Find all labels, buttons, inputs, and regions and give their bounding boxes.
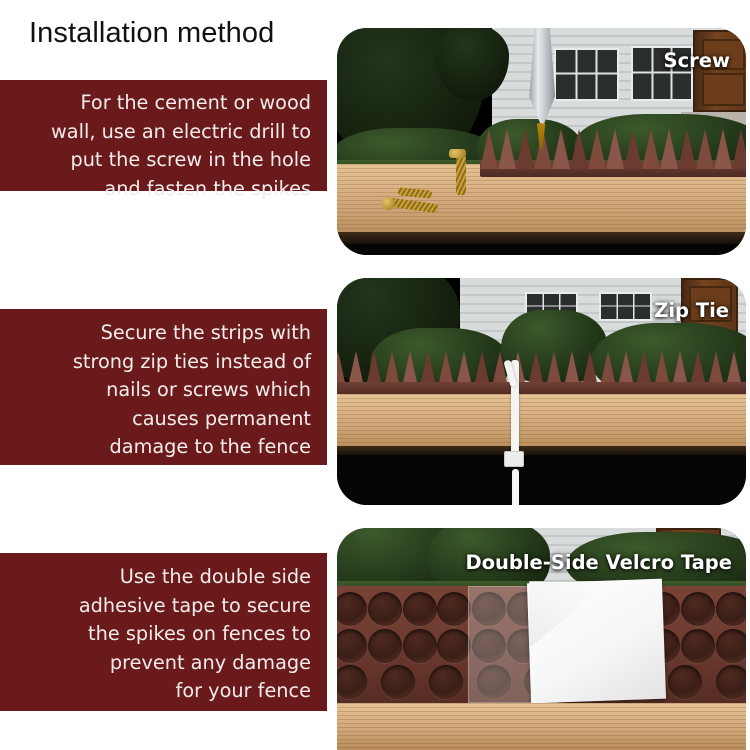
cavity [368, 592, 402, 626]
house-window-right [599, 292, 652, 322]
cavity [437, 592, 471, 626]
caption-line: for your fence [10, 677, 311, 706]
caption-line: nails or screws which [10, 376, 311, 405]
caption-line: and fasten the spikes [10, 175, 311, 204]
loose-screw-1-head [382, 197, 395, 210]
caption-line: put the screw in the hole [10, 146, 311, 175]
step-photo-ziptie: Zip Tie [337, 278, 746, 505]
spike [624, 129, 642, 169]
spike [660, 129, 678, 169]
cavity [716, 665, 746, 699]
photo-label-screw: Screw [664, 50, 730, 72]
step-row-1: Screw For the cement or wood wall, use a… [0, 0, 750, 262]
wood-board [337, 703, 746, 750]
cavity [668, 665, 702, 699]
cavity [429, 665, 463, 699]
photo-dark-base [337, 244, 746, 255]
caption-line: For the cement or wood [10, 89, 311, 118]
step-caption-1: For the cement or wood wall, use an elec… [0, 80, 327, 191]
caption-line: causes permanent [10, 405, 311, 434]
spike [498, 129, 516, 169]
spike [570, 129, 588, 169]
cavity [337, 629, 367, 663]
cavity [437, 629, 471, 663]
step-photo-screw: Screw [337, 28, 746, 255]
photo-label-ziptie: Zip Tie [654, 300, 729, 322]
step-caption-2: Secure the strips with strong zip ties i… [0, 309, 327, 465]
step-photo-velcro: Double-Side Velcro Tape [337, 528, 746, 750]
door-panel-bottom [702, 73, 744, 107]
caption-line: the spikes on fences to [10, 620, 311, 649]
zip-tie-tail [512, 469, 519, 505]
step-caption-3: Use the double side adhesive tape to sec… [0, 553, 327, 711]
spike [588, 129, 606, 169]
cavity [337, 592, 367, 626]
caption-line: wall, use an electric drill to [10, 118, 311, 147]
caption-line: damage to the fence [10, 433, 311, 462]
window-pane-grid [601, 294, 650, 320]
spike-row [480, 119, 746, 169]
standing-screw [456, 155, 466, 195]
house-window-left [554, 48, 619, 100]
caption-line: Secure the strips with [10, 319, 311, 348]
window-pane-grid [556, 50, 617, 98]
photo-label-velcro: Double-Side Velcro Tape [465, 552, 732, 574]
cavity [716, 629, 746, 663]
caption-line: strong zip ties instead of [10, 348, 311, 377]
cavity [337, 665, 367, 699]
zip-tie-head [504, 451, 524, 467]
cavity [381, 665, 415, 699]
spike [642, 129, 660, 169]
cavity [716, 592, 746, 626]
standing-screw-head [449, 149, 466, 158]
spike [552, 129, 570, 169]
cavity [368, 629, 402, 663]
spike [696, 129, 714, 169]
spike [516, 129, 534, 169]
spike [480, 129, 498, 169]
step-row-2: Zip Tie Secure the strips with strong zi… [0, 262, 750, 512]
caption-line: adhesive tape to secure [10, 592, 311, 621]
spike [714, 129, 732, 169]
wood-board [337, 394, 746, 448]
spike [732, 129, 746, 169]
caption-line: Use the double side [10, 563, 311, 592]
spike [606, 129, 624, 169]
photo-dark-base [337, 455, 746, 505]
infographic-page: Installation method [0, 0, 750, 750]
cavity [403, 629, 437, 663]
cavity [403, 592, 437, 626]
cavity [681, 592, 715, 626]
spike [678, 129, 696, 169]
cavity [681, 629, 715, 663]
step-row-3: Double-Side Velcro Tape Use the double s… [0, 512, 750, 750]
caption-line: prevent any damage [10, 649, 311, 678]
